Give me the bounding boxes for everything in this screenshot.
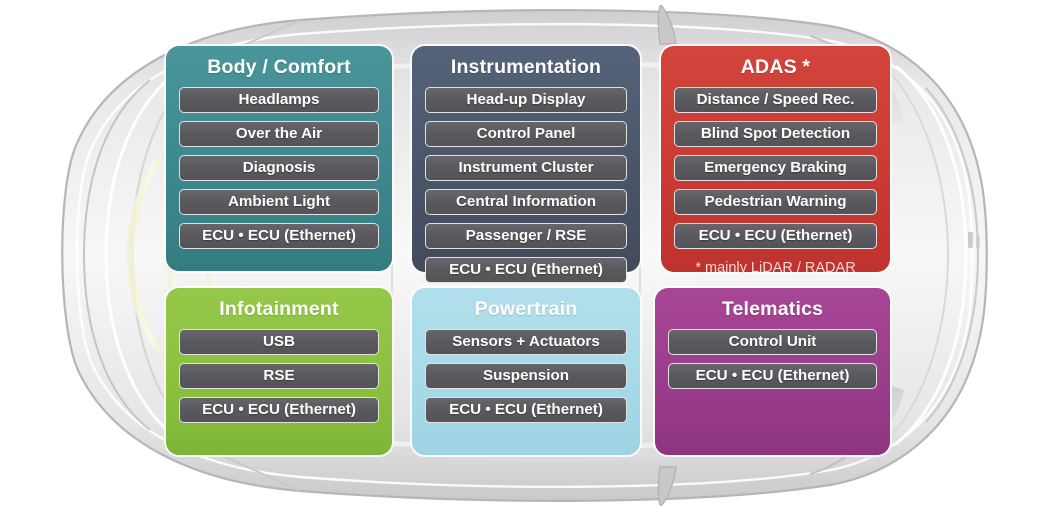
chip-blind-spot-detection[interactable]: Blind Spot Detection bbox=[674, 121, 877, 147]
chip-instrument-cluster[interactable]: Instrument Cluster bbox=[425, 155, 627, 181]
chip-control-unit[interactable]: Control Unit bbox=[668, 329, 877, 355]
panel-body-comfort[interactable]: Body / Comfort Headlamps Over the Air Di… bbox=[166, 46, 392, 271]
panel-title-telematics: Telematics bbox=[655, 288, 890, 329]
chip-over-the-air[interactable]: Over the Air bbox=[179, 121, 379, 147]
chip-ecu-ethernet[interactable]: ECU • ECU (Ethernet) bbox=[674, 223, 877, 249]
chip-central-information[interactable]: Central Information bbox=[425, 189, 627, 215]
panel-title-instrumentation: Instrumentation bbox=[412, 46, 640, 87]
chip-ecu-ethernet[interactable]: ECU • ECU (Ethernet) bbox=[425, 257, 627, 283]
chip-diagnosis[interactable]: Diagnosis bbox=[179, 155, 379, 181]
panel-title-body-comfort: Body / Comfort bbox=[166, 46, 392, 87]
diagram-canvas: Body / Comfort Headlamps Over the Air Di… bbox=[0, 0, 1047, 511]
chip-ecu-ethernet[interactable]: ECU • ECU (Ethernet) bbox=[179, 223, 379, 249]
chip-ecu-ethernet[interactable]: ECU • ECU (Ethernet) bbox=[179, 397, 379, 423]
chip-ecu-ethernet[interactable]: ECU • ECU (Ethernet) bbox=[668, 363, 877, 389]
chip-ambient-light[interactable]: Ambient Light bbox=[179, 189, 379, 215]
chip-list-instrumentation: Head-up Display Control Panel Instrument… bbox=[412, 87, 640, 283]
chip-suspension[interactable]: Suspension bbox=[425, 363, 627, 389]
panel-title-infotainment: Infotainment bbox=[166, 288, 392, 329]
panel-adas[interactable]: ADAS * Distance / Speed Rec. Blind Spot … bbox=[661, 46, 890, 272]
panel-title-powertrain: Powertrain bbox=[412, 288, 640, 329]
panel-powertrain[interactable]: Powertrain Sensors + Actuators Suspensio… bbox=[412, 288, 640, 455]
chip-distance-speed-rec[interactable]: Distance / Speed Rec. bbox=[674, 87, 877, 113]
chip-control-panel[interactable]: Control Panel bbox=[425, 121, 627, 147]
chip-sensors-actuators[interactable]: Sensors + Actuators bbox=[425, 329, 627, 355]
chip-rse[interactable]: RSE bbox=[179, 363, 379, 389]
panel-telematics[interactable]: Telematics Control Unit ECU • ECU (Ether… bbox=[655, 288, 890, 455]
chip-headlamps[interactable]: Headlamps bbox=[179, 87, 379, 113]
chip-list-body-comfort: Headlamps Over the Air Diagnosis Ambient… bbox=[166, 87, 392, 249]
chip-ecu-ethernet[interactable]: ECU • ECU (Ethernet) bbox=[425, 397, 627, 423]
chip-list-infotainment: USB RSE ECU • ECU (Ethernet) bbox=[166, 329, 392, 423]
chip-list-powertrain: Sensors + Actuators Suspension ECU • ECU… bbox=[412, 329, 640, 423]
panel-title-adas: ADAS * bbox=[661, 46, 890, 87]
chip-head-up-display[interactable]: Head-up Display bbox=[425, 87, 627, 113]
chip-pedestrian-warning[interactable]: Pedestrian Warning bbox=[674, 189, 877, 215]
panel-instrumentation[interactable]: Instrumentation Head-up Display Control … bbox=[412, 46, 640, 272]
chip-list-telematics: Control Unit ECU • ECU (Ethernet) bbox=[655, 329, 890, 389]
adas-footnote: * mainly LiDAR / RADAR bbox=[674, 257, 877, 276]
chip-emergency-braking[interactable]: Emergency Braking bbox=[674, 155, 877, 181]
chip-usb[interactable]: USB bbox=[179, 329, 379, 355]
chip-list-adas: Distance / Speed Rec. Blind Spot Detecti… bbox=[661, 87, 890, 276]
panel-infotainment[interactable]: Infotainment USB RSE ECU • ECU (Ethernet… bbox=[166, 288, 392, 455]
chip-passenger-rse[interactable]: Passenger / RSE bbox=[425, 223, 627, 249]
